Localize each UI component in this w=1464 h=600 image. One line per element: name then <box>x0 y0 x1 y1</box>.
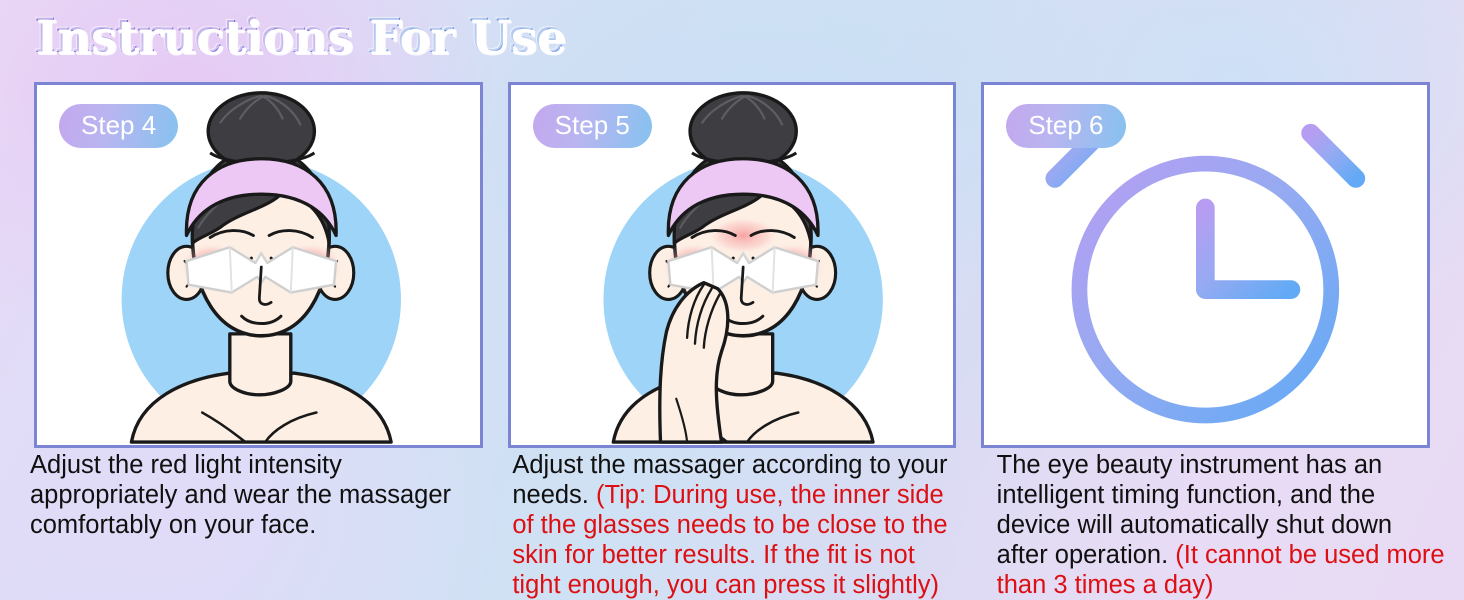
step-caption-4: Adjust the red light intensity appropria… <box>30 450 481 600</box>
step-badge-6: Step 6 <box>1006 104 1125 148</box>
step-caption-5: Adjust the massager according to your ne… <box>512 450 963 600</box>
step-panel-6: Step 6 <box>981 82 1430 448</box>
page-title: Instructions For Use <box>34 8 564 66</box>
page-title-part-one: Instructions <box>34 9 351 64</box>
step-caption-4-text: Adjust the red light intensity appropria… <box>30 451 451 539</box>
step-panel-5: Step 5 <box>508 82 957 448</box>
step-badge-4: Step 4 <box>59 104 178 148</box>
step-panel-4: Step 4 <box>34 82 483 448</box>
step-badge-5: Step 5 <box>533 104 652 148</box>
step-panels-row: Step 4 <box>0 82 1464 448</box>
step-captions-row: Adjust the red light intensity appropria… <box>0 450 1464 600</box>
page-title-part-two: For Use <box>351 9 564 64</box>
step-caption-6: The eye beauty instrument has an intelli… <box>997 450 1448 600</box>
instructions-page: Instructions For Use Step 4 <box>0 0 1464 600</box>
